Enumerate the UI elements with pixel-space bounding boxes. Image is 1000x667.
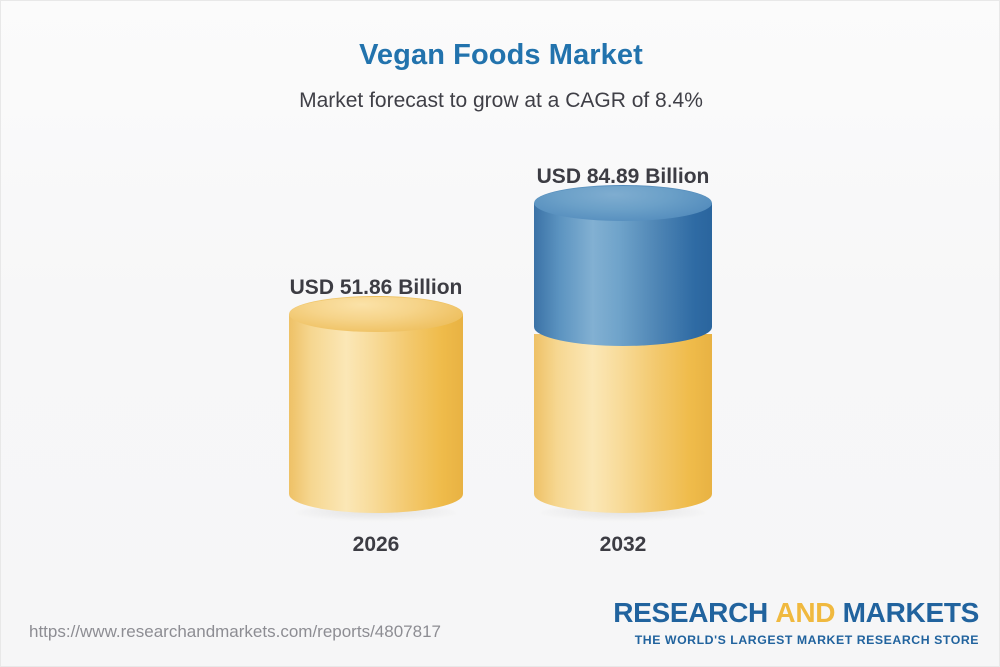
cylinder-body: [289, 314, 463, 513]
bar-cylinder-2032[interactable]: [534, 203, 712, 513]
logo-research-text: RESEARCH: [613, 597, 768, 628]
bar-segment-2032-yellow: [534, 334, 712, 513]
logo-wordmark: RESEARCH AND MARKETS: [613, 599, 979, 627]
cylinder-top-cap: [289, 296, 463, 332]
report-url[interactable]: https://www.researchandmarkets.com/repor…: [29, 622, 441, 642]
brand-logo[interactable]: RESEARCH AND MARKETS THE WORLD'S LARGEST…: [613, 599, 979, 646]
category-label-2032: 2032: [523, 533, 723, 557]
category-label-2026: 2026: [276, 533, 476, 557]
bar-cylinder-2026[interactable]: [289, 314, 463, 513]
logo-and-text: AND: [775, 597, 835, 628]
cylinder-body: [534, 334, 712, 513]
bar-segment-2026-yellow: [289, 314, 463, 513]
logo-tagline: THE WORLD'S LARGEST MARKET RESEARCH STOR…: [613, 634, 979, 646]
chart-canvas: Vegan Foods Market Market forecast to gr…: [0, 0, 1000, 667]
cylinder-body: [534, 203, 712, 346]
logo-markets-text: MARKETS: [843, 597, 979, 628]
bar-segment-2032-blue: [534, 203, 712, 346]
cylinder-top-cap: [534, 185, 712, 221]
plot-area: USD 51.86 Billion USD 84.89 Billion: [1, 1, 1000, 601]
